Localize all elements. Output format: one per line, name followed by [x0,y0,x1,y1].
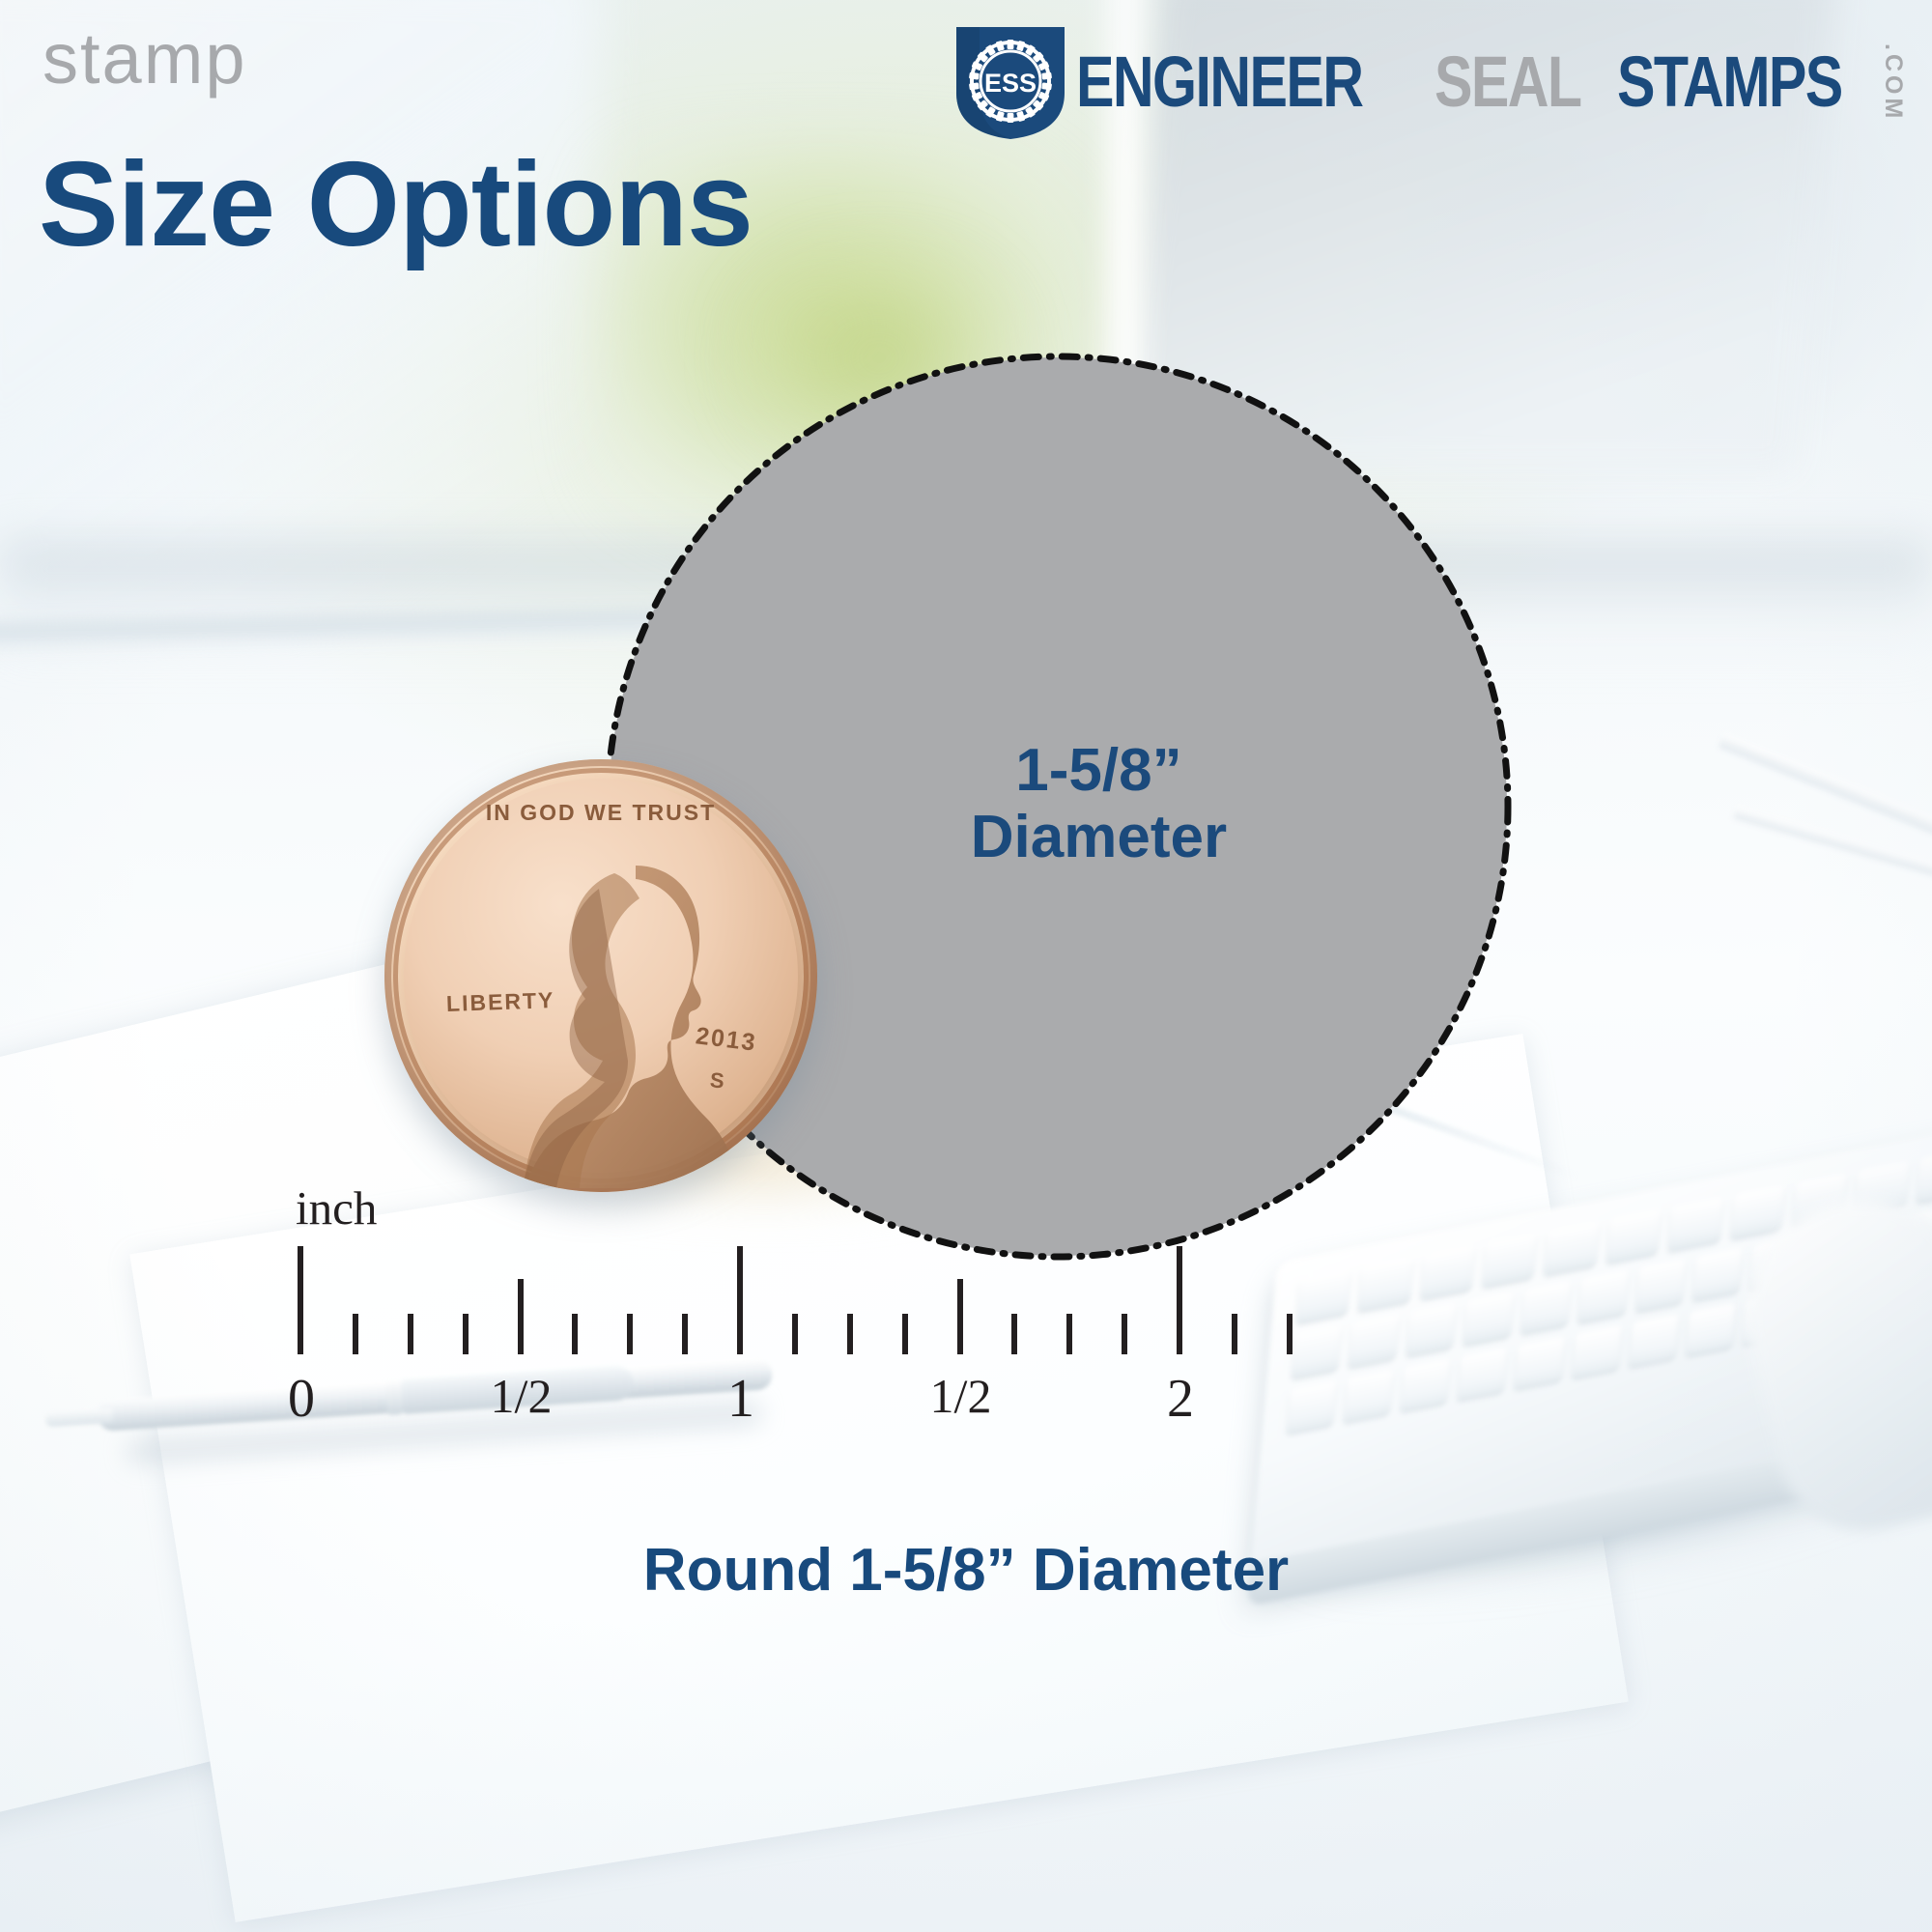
ruler-tick [847,1314,853,1354]
coin-mint-mark: S [709,1067,727,1094]
ruler-tick [1232,1314,1237,1354]
lincoln-bust-icon [522,850,744,1188]
brand-wordmark: ENGINEER SEAL STAMPS [1076,46,1898,118]
stamp-label: stamp [43,23,247,95]
coin-liberty: LIBERTY [446,987,555,1017]
ruler-tick [1066,1314,1072,1354]
ruler-tick [463,1314,469,1354]
ruler-tick [572,1314,578,1354]
brand-word-dotcom: .COM [1881,43,1905,122]
size-callout: 1-5/8” Diameter [971,737,1227,871]
ruler-tick [518,1279,524,1354]
ruler-label-2: 1 [727,1368,754,1430]
ruler-tick [1122,1314,1127,1354]
ruler-tick [1011,1314,1017,1354]
ess-shield-icon: ESS [951,21,1070,143]
ruler-tick [902,1314,908,1354]
ruler-scale [298,1238,1515,1354]
ruler-tick [792,1314,798,1354]
brand-word-seal: SEAL [1435,46,1580,118]
ruler-tick [682,1314,688,1354]
penny-coin: IN GOD WE TRUST LIBERTY 2013 S [384,759,817,1192]
ruler-tick [957,1279,963,1354]
ruler-tick [353,1314,358,1354]
ruler-label-4: 2 [1167,1368,1194,1430]
ruler-label-1: 1/2 [491,1368,553,1424]
size-callout-dimension: 1-5/8” [971,737,1227,804]
size-caption: Round 1-5/8” Diameter [0,1536,1932,1605]
ruler-unit-label: inch [296,1180,377,1236]
ruler-tick [737,1246,743,1354]
svg-text:ESS: ESS [984,69,1037,98]
brand-logo[interactable]: ESS ENGINEER SEAL STAMPS .COM [951,21,1905,143]
ruler-tick [298,1246,303,1354]
ruler-tick [1287,1314,1293,1354]
page-title: Size Options [39,145,753,265]
size-callout-word: Diameter [971,804,1227,870]
ruler-tick [1177,1246,1182,1354]
ruler-label-0: 0 [288,1368,315,1430]
brand-word-engineer: ENGINEER [1076,46,1362,118]
ruler-tick [627,1314,633,1354]
penny-field: IN GOD WE TRUST LIBERTY 2013 S [404,779,798,1173]
ruler-tick [408,1314,413,1354]
ruler-label-3: 1/2 [930,1368,992,1424]
brand-word-stamps: STAMPS [1617,46,1842,118]
coin-motto: IN GOD WE TRUST [441,800,760,826]
